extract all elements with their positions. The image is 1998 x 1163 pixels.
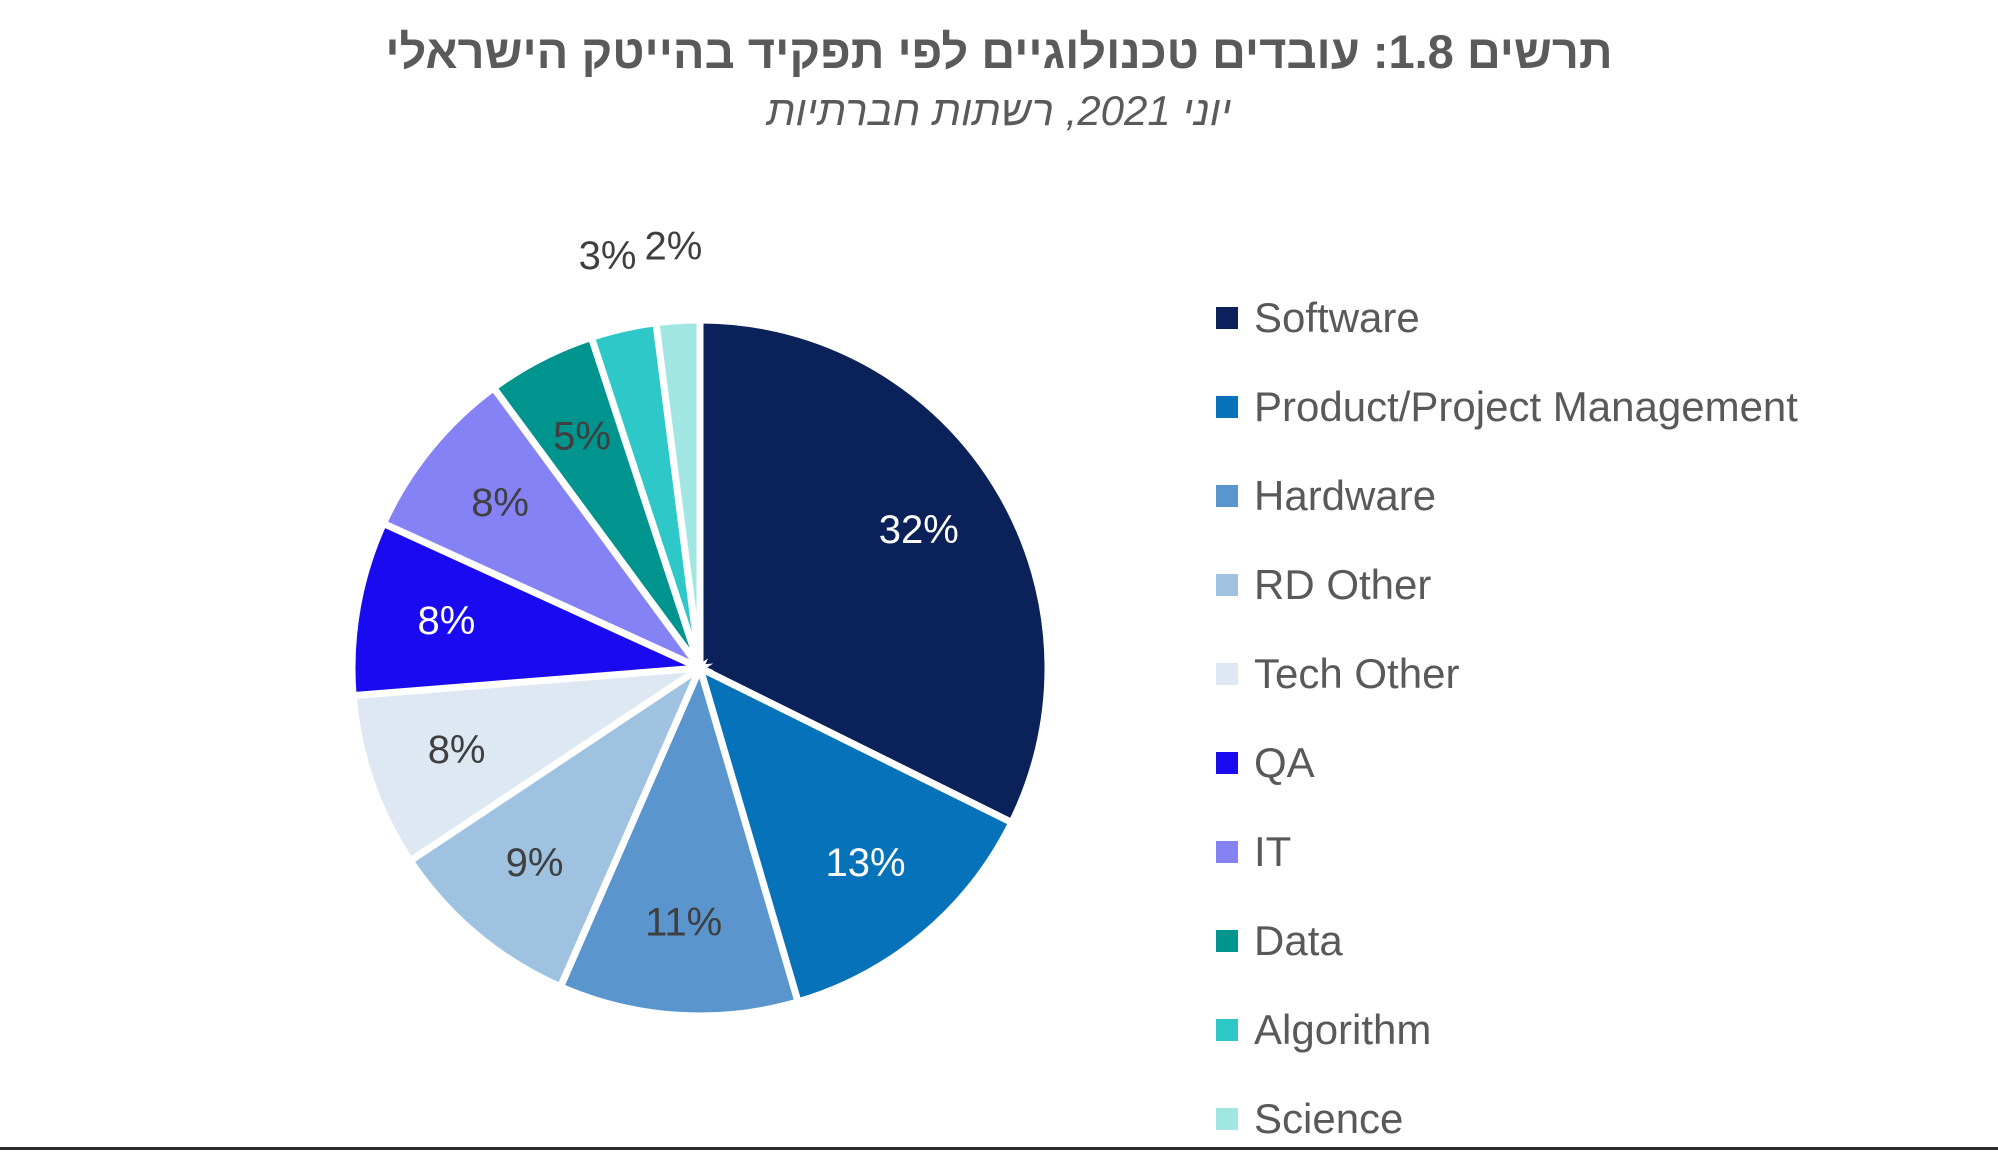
legend-item-label: Algorithm [1254,1009,1431,1051]
legend-item[interactable]: Data [1216,896,1976,985]
pie-slice-label: 5% [553,415,611,459]
legend-item-label: Data [1254,920,1343,962]
pie-chart-area: 32%13%11%9%8%8%8%5%3%2% [0,0,1160,1155]
legend-item-label: Tech Other [1254,653,1459,695]
legend-item[interactable]: Hardware [1216,451,1976,540]
pie-slice-label: 13% [825,841,905,885]
legend-swatch-icon [1216,396,1238,418]
legend-item-label: IT [1254,831,1291,873]
legend-swatch-icon [1216,1108,1238,1130]
legend-swatch-icon [1216,930,1238,952]
legend-item[interactable]: IT [1216,807,1976,896]
pie-slice-label: 32% [879,508,959,552]
legend-swatch-icon [1216,663,1238,685]
legend-swatch-icon [1216,1019,1238,1041]
pie-slice-label: 9% [506,841,564,885]
pie-chart-svg: 32%13%11%9%8%8%8%5%3%2% [0,0,1160,1155]
legend-swatch-icon [1216,752,1238,774]
bottom-rule [0,1147,1998,1150]
legend-item[interactable]: RD Other [1216,540,1976,629]
pie-slice-label: 8% [417,599,475,643]
legend-swatch-icon [1216,574,1238,596]
pie-slice-label: 2% [644,224,702,268]
legend-swatch-icon [1216,307,1238,329]
legend-item-label: QA [1254,742,1315,784]
legend-item[interactable]: QA [1216,718,1976,807]
chart-legend: SoftwareProduct/Project ManagementHardwa… [1216,273,1976,1163]
pie-slice-label: 3% [579,234,637,278]
pie-slice-label: 11% [645,901,722,945]
legend-item[interactable]: Algorithm [1216,985,1976,1074]
legend-item[interactable]: Tech Other [1216,629,1976,718]
legend-item-label: Software [1254,297,1420,339]
legend-item[interactable]: Software [1216,273,1976,362]
pie-slice-label: 8% [471,481,529,525]
legend-item-label: Product/Project Management [1254,386,1798,428]
legend-item-label: Hardware [1254,475,1436,517]
legend-swatch-icon [1216,485,1238,507]
legend-item-label: Science [1254,1098,1403,1140]
legend-item[interactable]: Product/Project Management [1216,362,1976,451]
legend-swatch-icon [1216,841,1238,863]
legend-item-label: RD Other [1254,564,1431,606]
chart-root: תרשים 1.8: עובדים טכנולוגיים לפי תפקיד ב… [0,0,1998,1155]
pie-slice-label: 8% [428,728,486,772]
